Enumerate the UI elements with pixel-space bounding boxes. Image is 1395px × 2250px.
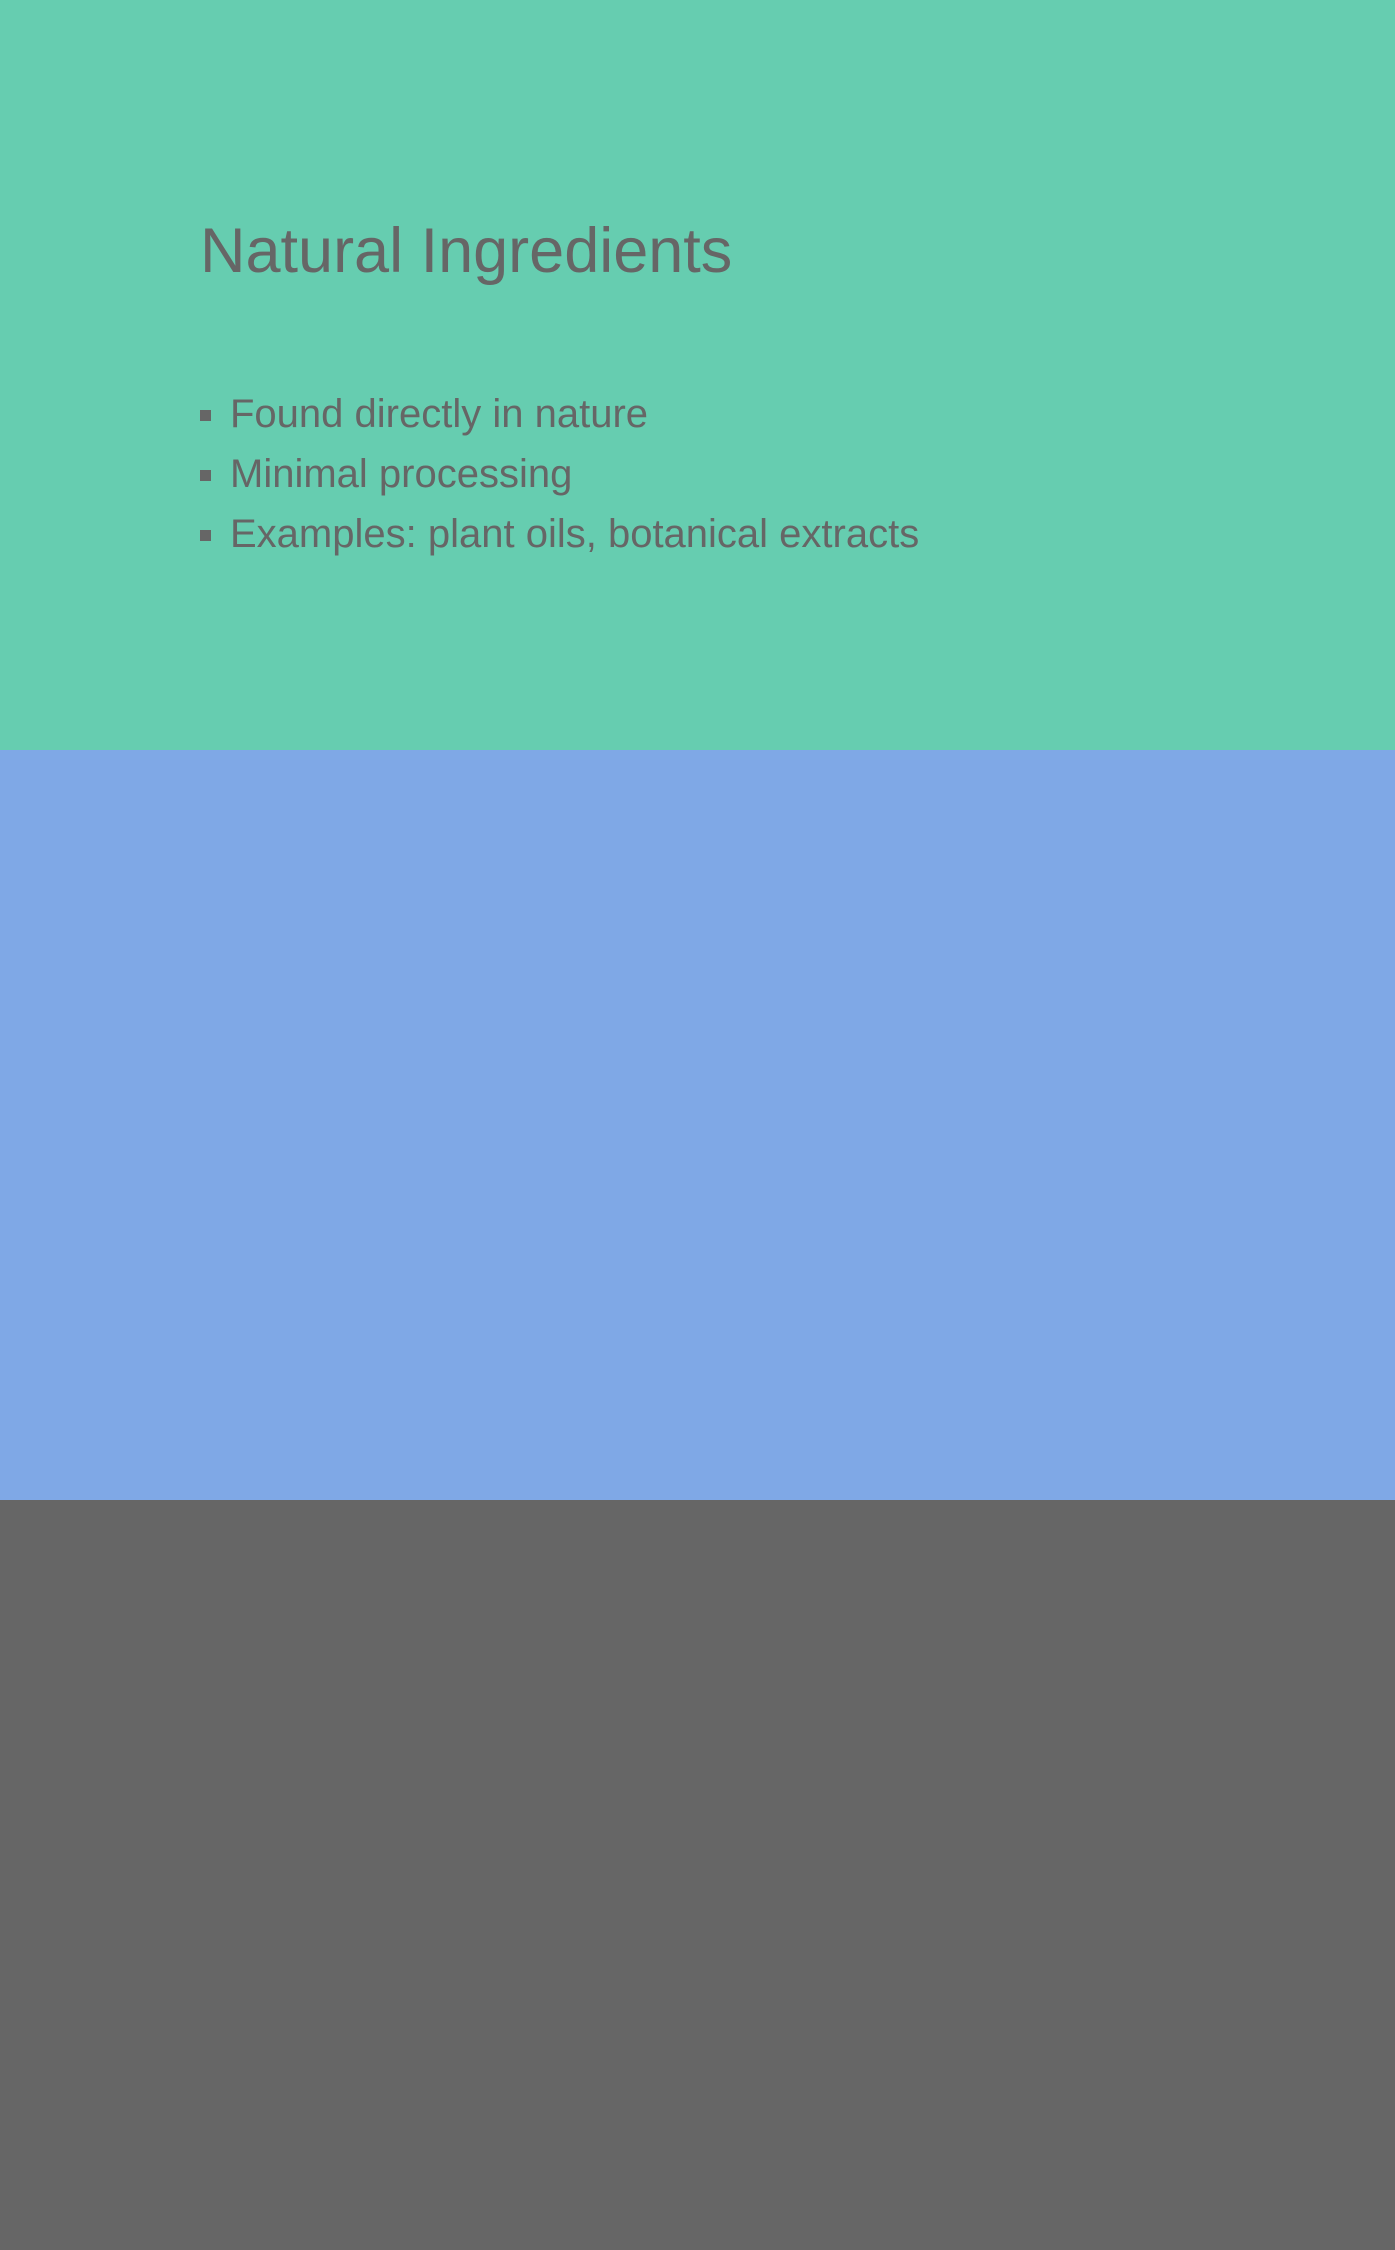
list-item-label: Minimal processing (230, 448, 572, 500)
list-item: Minimal processing (200, 448, 919, 508)
slide-natural-ingredients: Natural Ingredients Found directly in na… (0, 0, 1395, 750)
slide-natural-origin-ingredients: Natural-Origin Ingredients Derived from … (0, 750, 1395, 1500)
square-bullet-icon (200, 470, 211, 481)
slide-deck: Natural Ingredients Found directly in na… (0, 0, 1395, 2250)
slide-closing-note: Used with intention, never excess. (0, 1500, 1395, 2250)
square-bullet-icon (200, 530, 211, 541)
list-item: Examples: plant oils, botanical extracts (200, 508, 919, 568)
square-bullet-icon (200, 410, 211, 421)
list-item: Found directly in nature (200, 388, 919, 448)
list-item-label: Found directly in nature (230, 388, 648, 440)
page-title: Natural Ingredients (200, 220, 732, 283)
bullet-list-natural-ingredients: Found directly in nature Minimal process… (200, 388, 919, 568)
list-item-label: Examples: plant oils, botanical extracts (230, 508, 919, 560)
